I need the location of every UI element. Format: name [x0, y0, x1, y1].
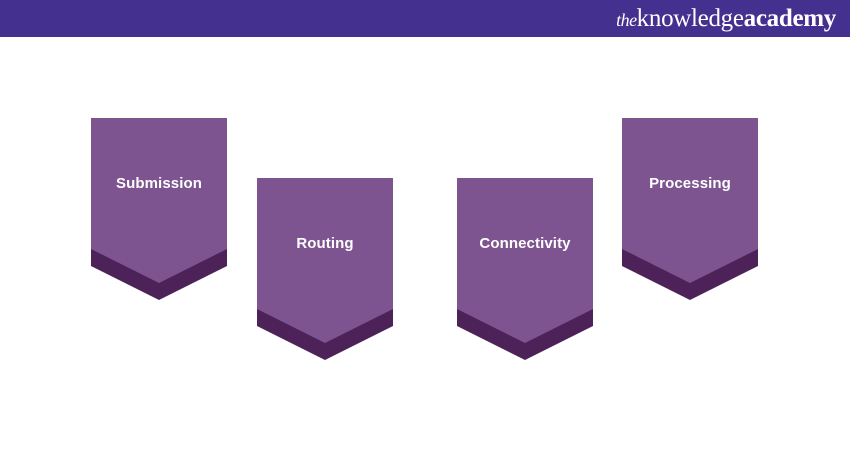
banner-label: Submission — [91, 118, 227, 249]
brand-logo-the: the — [616, 10, 637, 30]
brand-logo-academy: academy — [744, 5, 836, 32]
banner-diagram: Submission Routing Connectivity Processi… — [0, 37, 850, 450]
header-bar: theknowledgeacademy — [0, 0, 850, 37]
banner-label: Processing — [622, 118, 758, 249]
brand-logo-knowledge: knowledge — [637, 5, 744, 32]
banner-label: Routing — [257, 178, 393, 309]
brand-logo[interactable]: theknowledgeacademy — [616, 6, 836, 31]
banner-label: Connectivity — [457, 178, 593, 309]
